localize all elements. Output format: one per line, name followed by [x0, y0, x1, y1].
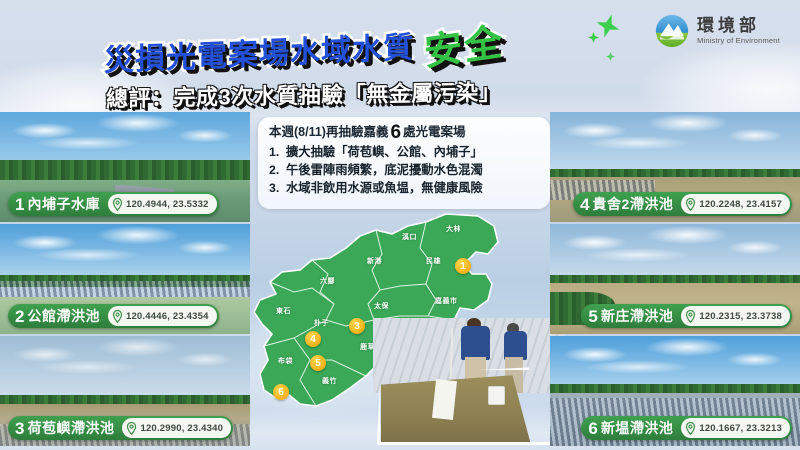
map-town-label: 新港 — [367, 256, 382, 266]
photo-clouds — [0, 336, 250, 398]
site-card-3[interactable]: 3 荷苞嶼滯洪池 120.2990, 23.4340 — [0, 336, 250, 446]
site-label-bar: 2 公館滯洪池 120.4446, 23.4354 — [8, 304, 219, 328]
title-row: 災損光電案場水域水質 安全 — [104, 16, 504, 73]
site-card-1[interactable]: 1 內埔子水庫 120.4944, 23.5332 — [0, 112, 250, 222]
ministry-emblem-icon — [655, 14, 689, 48]
map-town-label: 溪口 — [402, 232, 417, 242]
list-item: 3. 水域非飲用水源或魚塭，無健康風險 — [269, 179, 541, 197]
site-label-bar: 4 貴舍2滯洪池 120.2248, 23.4157 — [573, 192, 792, 216]
map-pin-6[interactable]: 6 — [273, 384, 289, 400]
site-label-bar: 1 內埔子水庫 120.4944, 23.5332 — [8, 192, 219, 216]
location-pin-icon — [685, 310, 696, 323]
site-name: 公館滯洪池 — [27, 306, 100, 326]
site-name: 新塭滯洪池 — [601, 418, 674, 438]
coordinate-pill: 120.2315, 23.3738 — [681, 306, 790, 326]
coordinate-pill: 120.4944, 23.5332 — [108, 194, 217, 214]
page-subtitle: 總評：完成3次水質抽驗「無金屬污染」 — [106, 75, 501, 114]
location-pin-icon — [685, 422, 696, 435]
photo-treeline — [0, 160, 250, 182]
sparkle-icon — [606, 52, 615, 61]
map-town-label: 大林 — [446, 224, 461, 234]
map-pin-3[interactable]: 3 — [349, 318, 365, 334]
info-heading-suffix: 處光電案場 — [403, 125, 466, 139]
site-card-5[interactable]: 5 新庄滯洪池 120.2315, 23.3738 — [550, 224, 800, 334]
photo-treeline — [550, 275, 800, 284]
map-town-label: 嘉義市 — [435, 296, 458, 306]
map-pin-1[interactable]: 1 — [455, 258, 471, 274]
list-item-text: 水域非飲用水源或魚塭，無健康風險 — [286, 179, 483, 197]
site-label-bar: 3 荷苞嶼滯洪池 120.2990, 23.4340 — [8, 416, 233, 440]
site-label-bar: 6 新塭滯洪池 120.1667, 23.3213 — [581, 416, 792, 440]
coordinate-pill: 120.2990, 23.4340 — [122, 418, 231, 438]
list-item-index: 1. — [269, 143, 282, 161]
infographic-poster: 災損光電案場水域水質 安全 總評：完成3次水質抽驗「無金屬污染」 — [0, 0, 800, 450]
site-coordinates: 120.2315, 23.3738 — [699, 311, 782, 322]
location-pin-icon — [112, 198, 123, 211]
site-number: 2 — [15, 308, 24, 325]
site-number: 5 — [588, 308, 597, 325]
map-town-label: 六腳 — [320, 276, 335, 286]
photo-sample-bottle — [488, 386, 505, 406]
site-card-6[interactable]: 6 新塭滯洪池 120.1667, 23.3213 — [550, 336, 800, 446]
photo-clouds — [550, 112, 800, 174]
list-item-text: 擴大抽驗「荷苞嶼、公館、內埔子」 — [286, 143, 483, 161]
site-label-bar: 5 新庄滯洪池 120.2315, 23.3738 — [581, 304, 792, 328]
list-item-index: 3. — [269, 179, 282, 197]
coordinate-pill: 120.2248, 23.4157 — [681, 194, 790, 214]
site-coordinates: 120.4446, 23.4354 — [126, 311, 209, 322]
site-coordinates: 120.2248, 23.4157 — [699, 199, 782, 210]
info-heading-prefix: 本週(8/11)再抽驗嘉義 — [269, 125, 388, 139]
photo-worker-torso — [504, 331, 527, 360]
map-town-label: 東石 — [276, 306, 291, 316]
location-pin-icon — [685, 198, 696, 211]
header: 災損光電案場水域水質 安全 總評：完成3次水質抽驗「無金屬污染」 — [0, 0, 800, 118]
site-name: 內埔子水庫 — [27, 194, 100, 214]
map-town-label: 太保 — [374, 301, 389, 311]
photo-worker-torso — [461, 326, 490, 360]
sparkle-icon — [593, 11, 623, 41]
page-title-accent: 安全 — [423, 11, 506, 77]
page-title: 災損光電案場水域水質 — [104, 22, 414, 80]
site-name: 新庄滯洪池 — [601, 306, 674, 326]
site-number: 4 — [580, 196, 589, 213]
location-pin-icon — [112, 310, 123, 323]
map-pin-4[interactable]: 4 — [305, 331, 321, 347]
list-item-index: 2. — [269, 161, 282, 179]
site-coordinates: 120.4944, 23.5332 — [126, 199, 209, 210]
location-pin-icon — [126, 422, 137, 435]
site-card-2[interactable]: 2 公館滯洪池 120.4446, 23.4354 — [0, 224, 250, 334]
list-item-text: 午後雷陣雨頻繁，底泥擾動水色混濁 — [286, 161, 483, 179]
map-town-label: 民雄 — [426, 256, 441, 266]
info-panel: 本週(8/11)再抽驗嘉義6處光電案場 1. 擴大抽驗「荷苞嶼、公館、內埔子」 … — [258, 117, 550, 209]
logo-text: 環境部 Ministry of Environment — [697, 17, 780, 46]
ministry-name-zh: 環境部 — [697, 17, 780, 35]
water-sampling-photo — [373, 318, 565, 448]
map-pin-5[interactable]: 5 — [310, 355, 326, 371]
coordinate-pill: 120.4446, 23.4354 — [108, 306, 217, 326]
photo-frame — [377, 367, 554, 445]
info-list: 1. 擴大抽驗「荷苞嶼、公館、內埔子」 2. 午後雷陣雨頻繁，底泥擾動水色混濁 … — [269, 143, 541, 197]
ministry-name-en: Ministry of Environment — [697, 36, 780, 45]
list-item: 1. 擴大抽驗「荷苞嶼、公館、內埔子」 — [269, 143, 541, 161]
site-name: 貴舍2滯洪池 — [593, 194, 674, 214]
coordinate-pill: 120.1667, 23.3213 — [681, 418, 790, 438]
list-item: 2. 午後雷陣雨頻繁，底泥擾動水色混濁 — [269, 161, 541, 179]
site-number: 3 — [15, 420, 24, 437]
ministry-logo: 環境部 Ministry of Environment — [655, 14, 780, 48]
site-coordinates: 120.1667, 23.3213 — [699, 423, 782, 434]
map-town-label: 布袋 — [278, 356, 293, 366]
sparkle-icon — [588, 32, 599, 43]
site-number: 1 — [15, 196, 24, 213]
site-coordinates: 120.2990, 23.4340 — [140, 423, 223, 434]
map-town-label: 義竹 — [322, 376, 337, 386]
site-name: 荷苞嶼滯洪池 — [27, 418, 114, 438]
info-heading: 本週(8/11)再抽驗嘉義6處光電案場 — [269, 124, 541, 141]
map-town-label: 朴子 — [314, 318, 329, 328]
info-heading-count: 6 — [390, 122, 401, 143]
site-card-4[interactable]: 4 貴舍2滯洪池 120.2248, 23.4157 — [550, 112, 800, 222]
site-number: 6 — [588, 420, 597, 437]
